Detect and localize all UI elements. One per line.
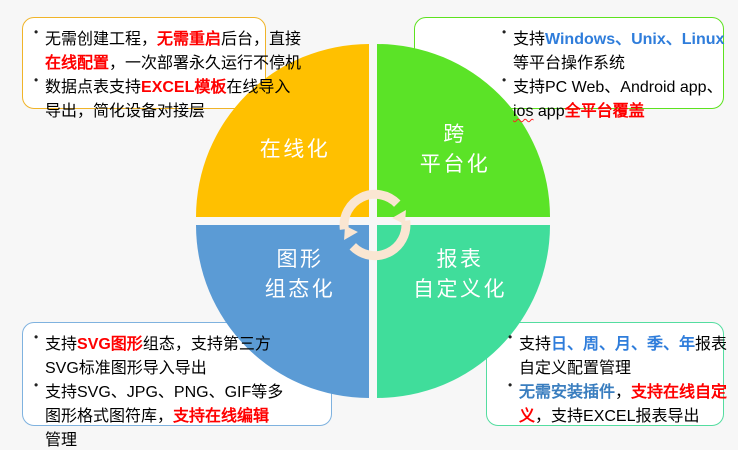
text-segment: ， [615, 384, 631, 401]
callout-bullet: 无需安装插件，支持在线自定义，支持EXCEL报表导出 [508, 378, 736, 426]
quadrant-label-cross-platform: 跨 平台化 [400, 120, 510, 180]
text-segment: 等平台操作系统 [513, 55, 625, 72]
text-segment: 在线配置 [45, 55, 109, 72]
callout-bullet: 支持SVG图形组态，支持第三方SVG标准图形导入导出 [34, 330, 284, 378]
text-segment: Windows、Unix、Linux [545, 31, 724, 48]
text-segment: ，一次部署永久运行不停机 [109, 55, 301, 72]
text-segment: ，支持EXCEL报表导出 [535, 408, 699, 425]
text-segment: 日、周、月、季、年 [551, 336, 695, 353]
callout-bullet: 支持Windows、Unix、Linux等平台操作系统 [502, 25, 730, 73]
text-segment: 支持PC Web、Android app、 [513, 79, 723, 96]
callout-text-top-right: 支持Windows、Unix、Linux等平台操作系统支持PC Web、Andr… [502, 25, 730, 121]
text-segment: 支持在线编辑 [173, 408, 269, 425]
text-segment: app [533, 103, 564, 120]
callout-bullet: 无需创建工程，无需重启后台，直接在线配置，一次部署永久运行不停机 [34, 25, 304, 73]
text-segment: 支持 [519, 336, 551, 353]
callout-text-top-left: 无需创建工程，无需重启后台，直接在线配置，一次部署永久运行不停机数据点表支持EX… [34, 25, 304, 121]
text-segment: 支持 [45, 336, 77, 353]
quadrant-label-graphics: 图形 组态化 [245, 245, 355, 305]
text-segment: 无需重启 [157, 31, 221, 48]
text-segment: 数据点表支持 [45, 79, 141, 96]
callout-text-bottom-right: 支持日、周、月、季、年报表自定义配置管理无需安装插件，支持在线自定义，支持EXC… [508, 330, 736, 426]
callout-bullet: 数据点表支持EXCEL模板在线导入导出，简化设备对接层 [34, 73, 304, 121]
text-segment: SVG图形 [77, 336, 143, 353]
callout-bullet: 支持PC Web、Android app、ios app全平台覆盖 [502, 73, 730, 121]
quadrant-label-report: 报表 自定义化 [400, 245, 520, 305]
text-segment: 无需创建工程， [45, 31, 157, 48]
text-segment: 后台，直接 [221, 31, 301, 48]
text-segment: EXCEL模板 [141, 79, 226, 96]
text-segment: 支持 [513, 31, 545, 48]
callout-bullet: 支持日、周、月、季、年报表自定义配置管理 [508, 330, 736, 378]
text-segment: ios [513, 103, 533, 120]
text-segment: 全平台覆盖 [565, 103, 645, 120]
callout-bullet: 支持SVG、JPG、PNG、GIF等多图形格式图符库，支持在线编辑管理 [34, 378, 284, 450]
callout-text-bottom-left: 支持SVG图形组态，支持第三方SVG标准图形导入导出支持SVG、JPG、PNG、… [34, 330, 284, 450]
text-segment: 无需安装插件 [519, 384, 615, 401]
quadrant-label-online: 在线化 [240, 135, 350, 165]
text-segment: 管理 [45, 432, 77, 449]
